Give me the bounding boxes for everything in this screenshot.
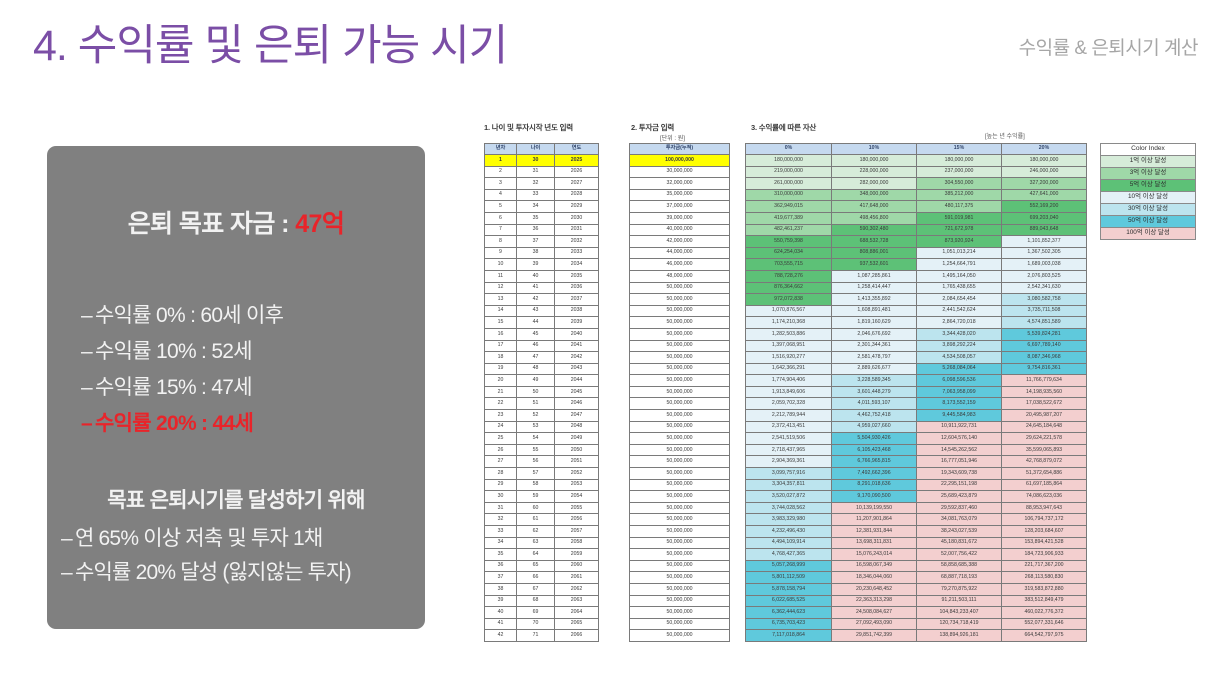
table-cell[interactable]: 237,000,000 [917, 166, 1002, 178]
table-row[interactable]: 17462041 [485, 340, 599, 352]
table-cell[interactable]: 106,794,737,172 [1002, 514, 1087, 526]
table-cell[interactable]: 28 [485, 468, 517, 480]
table-cell[interactable]: 2037 [555, 294, 599, 306]
table-cell[interactable]: 31 [517, 166, 555, 178]
table-cell[interactable]: 2042 [555, 352, 599, 364]
table-cell[interactable]: 58 [517, 479, 555, 491]
table-cell[interactable]: 39 [485, 595, 517, 607]
table-cell[interactable]: 383,512,849,479 [1002, 595, 1087, 607]
table-row[interactable]: 2,372,413,4514,959,027,66010,911,922,731… [746, 421, 1087, 433]
table-cell[interactable]: 808,886,001 [832, 247, 917, 259]
table-cell[interactable]: 22,363,313,298 [832, 595, 917, 607]
table-cell[interactable]: 2038 [555, 305, 599, 317]
table-row[interactable]: 27562051 [485, 456, 599, 468]
table-cell[interactable]: 36 [517, 224, 555, 236]
table-cell[interactable]: 1,397,068,951 [746, 340, 832, 352]
table-cell[interactable]: 319,583,872,880 [1002, 583, 1087, 595]
table-cell[interactable]: 3,898,292,224 [917, 340, 1002, 352]
table-row[interactable]: 6,735,703,42327,092,493,090120,734,718,4… [746, 618, 1087, 630]
table-row[interactable]: 1,282,503,8862,046,676,6923,344,428,0205… [746, 328, 1087, 340]
table-cell[interactable]: 1,051,013,214 [917, 247, 1002, 259]
table-cell[interactable]: 128,203,684,607 [1002, 526, 1087, 538]
table-cell[interactable]: 38 [485, 583, 517, 595]
table-cell[interactable]: 24,645,184,648 [1002, 421, 1087, 433]
table-row[interactable]: 6,362,444,62324,508,084,627104,843,233,4… [746, 607, 1087, 619]
table-cell[interactable]: 180,000,000 [1002, 155, 1087, 167]
table-row[interactable]: 8372032 [485, 236, 599, 248]
table-cell[interactable]: 38 [517, 247, 555, 259]
table-cell[interactable]: 184,723,906,933 [1002, 549, 1087, 561]
table-cell[interactable]: 3,520,027,872 [746, 491, 832, 503]
table-row[interactable]: 1302025 [485, 155, 599, 167]
table-cell[interactable]: 460,022,776,372 [1002, 607, 1087, 619]
table-cell[interactable]: 50,000,000 [630, 583, 730, 595]
table-row[interactable]: 1,913,849,6063,601,448,2797,063,958,0991… [746, 386, 1087, 398]
table-cell[interactable]: 3,983,329,980 [746, 514, 832, 526]
table-cell[interactable]: 419,677,389 [746, 212, 832, 224]
table-row[interactable]: 46,000,000 [630, 259, 730, 271]
table-cell[interactable]: 6,766,965,815 [832, 456, 917, 468]
table-cell[interactable]: 624,254,034 [746, 247, 832, 259]
table-row[interactable]: 310,000,000348,000,000385,212,000427,641… [746, 189, 1087, 201]
table-cell[interactable]: 5,268,084,064 [917, 363, 1002, 375]
table-cell[interactable]: 2062 [555, 583, 599, 595]
table-cell[interactable]: 3,344,428,020 [917, 328, 1002, 340]
table-cell[interactable]: 1,413,355,892 [832, 294, 917, 306]
table-cell[interactable]: 40 [517, 270, 555, 282]
table-cell[interactable]: 48,000,000 [630, 270, 730, 282]
table-cell[interactable]: 50,000,000 [630, 468, 730, 480]
table-cell[interactable]: 42 [517, 294, 555, 306]
table-row[interactable]: 50,000,000 [630, 386, 730, 398]
table-cell[interactable]: 2046 [555, 398, 599, 410]
table-row[interactable]: 6,022,685,52522,363,313,29891,211,503,11… [746, 595, 1087, 607]
table-cell[interactable]: 1 [485, 155, 517, 167]
table-cell[interactable]: 66 [517, 572, 555, 584]
table-row[interactable]: 37662061 [485, 572, 599, 584]
table-row[interactable]: 38672062 [485, 583, 599, 595]
table-cell[interactable]: 699,203,040 [1002, 212, 1087, 224]
table-row[interactable]: 16452040 [485, 328, 599, 340]
table-cell[interactable]: 37 [485, 572, 517, 584]
table-cell[interactable]: 50,000,000 [630, 630, 730, 642]
table-cell[interactable]: 22,295,151,198 [917, 479, 1002, 491]
table-cell[interactable]: 2025 [555, 155, 599, 167]
table-cell[interactable]: 2055 [555, 502, 599, 514]
table-cell[interactable]: 2,046,676,692 [832, 328, 917, 340]
table-cell[interactable]: 50,000,000 [630, 421, 730, 433]
table-cell[interactable]: 29,592,837,460 [917, 502, 1002, 514]
table-cell[interactable]: 2061 [555, 572, 599, 584]
table-cell[interactable]: 40,000,000 [630, 224, 730, 236]
table-row[interactable]: 39,000,000 [630, 212, 730, 224]
table-cell[interactable]: 29 [485, 479, 517, 491]
table-cell[interactable]: 50,000,000 [630, 560, 730, 572]
table-cell[interactable]: 2030 [555, 212, 599, 224]
table-cell[interactable]: 2,718,437,965 [746, 444, 832, 456]
table-cell[interactable]: 2064 [555, 607, 599, 619]
table-cell[interactable]: 69 [517, 607, 555, 619]
table-row[interactable]: 4,768,427,36515,076,243,01452,007,756,42… [746, 549, 1087, 561]
table-cell[interactable]: 972,072,838 [746, 294, 832, 306]
table-cell[interactable]: 1,495,164,050 [917, 270, 1002, 282]
table-cell[interactable]: 2056 [555, 514, 599, 526]
table-row[interactable]: 1,397,068,9512,301,344,3613,898,292,2246… [746, 340, 1087, 352]
table-cell[interactable]: 50,000,000 [630, 294, 730, 306]
table-cell[interactable]: 7,063,958,099 [917, 386, 1002, 398]
table-cell[interactable]: 2039 [555, 317, 599, 329]
table-cell[interactable]: 50,000,000 [630, 340, 730, 352]
table-cell[interactable]: 57 [517, 468, 555, 480]
table-cell[interactable]: 56 [517, 456, 555, 468]
table-row[interactable]: 876,364,6621,258,414,4471,765,438,6552,5… [746, 282, 1087, 294]
table-cell[interactable]: 4,959,027,660 [832, 421, 917, 433]
table-cell[interactable]: 1,608,891,481 [832, 305, 917, 317]
table-row[interactable]: 419,677,389498,456,800591,019,981699,203… [746, 212, 1087, 224]
table-cell[interactable]: 18,346,044,060 [832, 572, 917, 584]
table-body[interactable]: 100,000,00030,000,00032,000,00035,000,00… [630, 155, 730, 642]
table-row[interactable]: 5,878,158,79420,230,648,45279,270,875,92… [746, 583, 1087, 595]
table-cell[interactable]: 3,735,711,508 [1002, 305, 1087, 317]
table-cell[interactable]: 50,000,000 [630, 572, 730, 584]
table-cell[interactable]: 71 [517, 630, 555, 642]
table-cell[interactable]: 482,461,237 [746, 224, 832, 236]
table-cell[interactable]: 6,735,703,423 [746, 618, 832, 630]
table-cell[interactable]: 50,000,000 [630, 386, 730, 398]
table-cell[interactable]: 3,304,357,811 [746, 479, 832, 491]
table-cell[interactable]: 2060 [555, 560, 599, 572]
table-cell[interactable]: 36 [485, 560, 517, 572]
table-cell[interactable]: 50 [517, 386, 555, 398]
table-row[interactable]: 25542049 [485, 433, 599, 445]
table-cell[interactable]: 4,494,109,914 [746, 537, 832, 549]
table-row[interactable]: 36652060 [485, 560, 599, 572]
table-row[interactable]: 50,000,000 [630, 317, 730, 329]
table-cell[interactable]: 35,000,000 [630, 189, 730, 201]
table-row[interactable]: 50,000,000 [630, 572, 730, 584]
table-cell[interactable]: 552,077,331,646 [1002, 618, 1087, 630]
table-cell[interactable]: 2,212,789,944 [746, 410, 832, 422]
table-cell[interactable]: 219,000,000 [746, 166, 832, 178]
table-row[interactable]: 6352030 [485, 212, 599, 224]
table-cell[interactable]: 50,000,000 [630, 282, 730, 294]
table-cell[interactable]: 45,180,831,672 [917, 537, 1002, 549]
table-cell[interactable]: 51,372,654,886 [1002, 468, 1087, 480]
table-cell[interactable]: 60 [517, 502, 555, 514]
table-cell[interactable]: 1,174,210,368 [746, 317, 832, 329]
table-cell[interactable]: 2058 [555, 537, 599, 549]
table-cell[interactable]: 2,889,626,677 [832, 363, 917, 375]
table-cell[interactable]: 268,113,580,830 [1002, 572, 1087, 584]
table-row[interactable]: 41702065 [485, 618, 599, 630]
table-cell[interactable]: 721,672,978 [917, 224, 1002, 236]
table-cell[interactable]: 1,689,003,038 [1002, 259, 1087, 271]
age-year-table[interactable]: 년차나이연도 130202523120263322027433202853420… [484, 143, 599, 642]
table-row[interactable]: 11402035 [485, 270, 599, 282]
table-cell[interactable]: 5,057,268,999 [746, 560, 832, 572]
table-row[interactable]: 5342029 [485, 201, 599, 213]
table-row[interactable]: 50,000,000 [630, 398, 730, 410]
table-row[interactable]: 50,000,000 [630, 537, 730, 549]
table-cell[interactable]: 50,000,000 [630, 514, 730, 526]
table-cell[interactable]: 27 [485, 456, 517, 468]
table-cell[interactable]: 100,000,000 [630, 155, 730, 167]
table-cell[interactable]: 2057 [555, 526, 599, 538]
table-cell[interactable]: 2,059,702,328 [746, 398, 832, 410]
table-cell[interactable]: 6,098,596,536 [917, 375, 1002, 387]
table-cell[interactable]: 16,598,067,349 [832, 560, 917, 572]
table-cell[interactable]: 35 [485, 549, 517, 561]
table-cell[interactable]: 14,198,935,560 [1002, 386, 1087, 398]
table-cell[interactable]: 6,697,789,140 [1002, 340, 1087, 352]
table-cell[interactable]: 417,648,000 [832, 201, 917, 213]
table-cell[interactable]: 8 [485, 236, 517, 248]
table-row[interactable]: 19482043 [485, 363, 599, 375]
table-cell[interactable]: 27,092,493,090 [832, 618, 917, 630]
table-cell[interactable]: 30 [485, 491, 517, 503]
table-cell[interactable]: 24,508,084,627 [832, 607, 917, 619]
table-cell[interactable]: 19,343,609,738 [917, 468, 1002, 480]
table-row[interactable]: 4,232,496,43012,381,931,84438,243,027,53… [746, 526, 1087, 538]
table-row[interactable]: 1,516,920,2772,581,478,7974,534,508,0578… [746, 352, 1087, 364]
table-cell[interactable]: 2053 [555, 479, 599, 491]
table-cell[interactable]: 48 [517, 363, 555, 375]
table-cell[interactable]: 29,624,221,578 [1002, 433, 1087, 445]
table-row[interactable]: 482,461,237590,302,480721,672,978889,043… [746, 224, 1087, 236]
table-cell[interactable]: 32,000,000 [630, 178, 730, 190]
table-cell[interactable]: 32 [485, 514, 517, 526]
table-row[interactable]: 30,000,000 [630, 166, 730, 178]
table-cell[interactable]: 5,539,824,281 [1002, 328, 1087, 340]
table-cell[interactable]: 45 [517, 328, 555, 340]
table-cell[interactable]: 42,000,000 [630, 236, 730, 248]
table-row[interactable]: 48,000,000 [630, 270, 730, 282]
table-cell[interactable]: 3,080,582,758 [1002, 294, 1087, 306]
table-cell[interactable]: 2036 [555, 282, 599, 294]
table-cell[interactable]: 2063 [555, 595, 599, 607]
table-cell[interactable]: 2065 [555, 618, 599, 630]
table-cell[interactable]: 42 [485, 630, 517, 642]
table-cell[interactable]: 2041 [555, 340, 599, 352]
table-cell[interactable]: 261,000,000 [746, 178, 832, 190]
table-cell[interactable]: 1,070,876,567 [746, 305, 832, 317]
table-row[interactable]: 3,983,329,98011,207,901,86434,081,763,07… [746, 514, 1087, 526]
table-cell[interactable]: 24 [485, 421, 517, 433]
table-cell[interactable]: 10 [485, 259, 517, 271]
table-cell[interactable]: 10,139,199,550 [832, 502, 917, 514]
table-row[interactable]: 261,000,000282,000,000304,550,000327,200… [746, 178, 1087, 190]
table-cell[interactable]: 2,581,478,797 [832, 352, 917, 364]
table-cell[interactable]: 50,000,000 [630, 398, 730, 410]
table-cell[interactable]: 2066 [555, 630, 599, 642]
table-cell[interactable]: 15,076,243,014 [832, 549, 917, 561]
table-cell[interactable]: 37,000,000 [630, 201, 730, 213]
table-cell[interactable]: 15 [485, 317, 517, 329]
table-cell[interactable]: 304,550,000 [917, 178, 1002, 190]
table-cell[interactable]: 68,887,718,193 [917, 572, 1002, 584]
table-cell[interactable]: 20 [485, 375, 517, 387]
table-cell[interactable]: 876,364,662 [746, 282, 832, 294]
table-row[interactable]: 50,000,000 [630, 282, 730, 294]
table-cell[interactable]: 3,228,589,345 [832, 375, 917, 387]
table-cell[interactable]: 40 [485, 607, 517, 619]
table-cell[interactable]: 348,000,000 [832, 189, 917, 201]
table-row[interactable]: 1,642,366,2912,889,626,6775,268,084,0649… [746, 363, 1087, 375]
table-row[interactable]: 37,000,000 [630, 201, 730, 213]
table-row[interactable]: 50,000,000 [630, 328, 730, 340]
table-cell[interactable]: 1,101,852,377 [1002, 236, 1087, 248]
table-row[interactable]: 3,520,027,8729,170,090,50025,689,423,879… [746, 491, 1087, 503]
table-cell[interactable]: 2,542,341,630 [1002, 282, 1087, 294]
table-row[interactable]: 29582053 [485, 479, 599, 491]
table-cell[interactable]: 70 [517, 618, 555, 630]
table-cell[interactable]: 2044 [555, 375, 599, 387]
table-cell[interactable]: 34 [517, 201, 555, 213]
table-cell[interactable]: 10,911,922,731 [917, 421, 1002, 433]
table-cell[interactable]: 120,734,718,419 [917, 618, 1002, 630]
table-cell[interactable]: 4,768,427,365 [746, 549, 832, 561]
table-cell[interactable]: 2047 [555, 410, 599, 422]
table-cell[interactable]: 1,642,366,291 [746, 363, 832, 375]
table-cell[interactable]: 6,105,423,468 [832, 444, 917, 456]
table-cell[interactable]: 2059 [555, 549, 599, 561]
table-cell[interactable]: 88,953,947,643 [1002, 502, 1087, 514]
table-cell[interactable]: 11 [485, 270, 517, 282]
table-row[interactable]: 180,000,000180,000,000180,000,000180,000… [746, 155, 1087, 167]
table-cell[interactable]: 2040 [555, 328, 599, 340]
table-cell[interactable]: 2029 [555, 201, 599, 213]
table-body[interactable]: 1302025231202633220274332028534202963520… [485, 155, 599, 642]
investment-amount-table[interactable]: 투자금(누적) 100,000,00030,000,00032,000,0003… [629, 143, 730, 642]
table-row[interactable]: 624,254,034808,886,0011,051,013,2141,367… [746, 247, 1087, 259]
table-row[interactable]: 24532048 [485, 421, 599, 433]
table-cell[interactable]: 4,232,496,430 [746, 526, 832, 538]
table-row[interactable]: 14432038 [485, 305, 599, 317]
table-cell[interactable]: 50,000,000 [630, 618, 730, 630]
table-cell[interactable]: 50,000,000 [630, 433, 730, 445]
table-row[interactable]: 100,000,000 [630, 155, 730, 167]
table-row[interactable]: 9382033 [485, 247, 599, 259]
table-row[interactable]: 2,541,519,5065,504,930,42612,604,576,140… [746, 433, 1087, 445]
table-cell[interactable]: 1,367,502,305 [1002, 247, 1087, 259]
table-row[interactable]: 5,057,268,99916,598,067,34958,858,685,38… [746, 560, 1087, 572]
table-cell[interactable]: 1,819,160,629 [832, 317, 917, 329]
table-cell[interactable]: 703,555,715 [746, 259, 832, 271]
table-cell[interactable]: 25,689,423,879 [917, 491, 1002, 503]
table-cell[interactable]: 55 [517, 444, 555, 456]
table-row[interactable]: 3,304,357,8118,291,018,63622,295,151,198… [746, 479, 1087, 491]
table-cell[interactable]: 63 [517, 537, 555, 549]
table-cell[interactable]: 50,000,000 [630, 502, 730, 514]
table-row[interactable]: 50,000,000 [630, 491, 730, 503]
table-row[interactable]: 1,070,876,5671,608,891,4812,441,542,6243… [746, 305, 1087, 317]
table-cell[interactable]: 74,086,623,036 [1002, 491, 1087, 503]
table-cell[interactable]: 7,492,662,396 [832, 468, 917, 480]
table-cell[interactable]: 50,000,000 [630, 352, 730, 364]
table-cell[interactable]: 50,000,000 [630, 549, 730, 561]
table-row[interactable]: 50,000,000 [630, 421, 730, 433]
table-cell[interactable]: 2031 [555, 224, 599, 236]
table-cell[interactable]: 44,000,000 [630, 247, 730, 259]
table-row[interactable]: 33622057 [485, 526, 599, 538]
table-cell[interactable]: 50,000,000 [630, 317, 730, 329]
table-cell[interactable]: 228,000,000 [832, 166, 917, 178]
table-row[interactable]: 15442039 [485, 317, 599, 329]
table-row[interactable]: 7362031 [485, 224, 599, 236]
table-cell[interactable]: 427,641,000 [1002, 189, 1087, 201]
table-cell[interactable]: 5,878,158,794 [746, 583, 832, 595]
table-cell[interactable]: 20,495,987,207 [1002, 410, 1087, 422]
table-row[interactable]: 18472042 [485, 352, 599, 364]
table-cell[interactable]: 2045 [555, 386, 599, 398]
table-cell[interactable]: 6,022,685,525 [746, 595, 832, 607]
table-cell[interactable]: 552,169,200 [1002, 201, 1087, 213]
table-cell[interactable]: 61 [517, 514, 555, 526]
table-row[interactable]: 3,099,757,9167,492,662,39619,343,609,738… [746, 468, 1087, 480]
table-row[interactable]: 362,949,015417,648,000480,117,375552,169… [746, 201, 1087, 213]
table-row[interactable]: 28572052 [485, 468, 599, 480]
table-cell[interactable]: 91,211,503,111 [917, 595, 1002, 607]
table-cell[interactable]: 16 [485, 328, 517, 340]
table-row[interactable]: 50,000,000 [630, 410, 730, 422]
table-cell[interactable]: 5 [485, 201, 517, 213]
table-cell[interactable]: 19 [485, 363, 517, 375]
table-cell[interactable]: 1,516,920,277 [746, 352, 832, 364]
table-cell[interactable]: 3 [485, 178, 517, 190]
table-cell[interactable]: 9,170,090,500 [832, 491, 917, 503]
table-cell[interactable]: 7,117,018,864 [746, 630, 832, 642]
table-cell[interactable]: 23 [485, 410, 517, 422]
table-cell[interactable]: 4 [485, 189, 517, 201]
table-cell[interactable]: 46 [517, 340, 555, 352]
table-cell[interactable]: 2043 [555, 363, 599, 375]
table-cell[interactable]: 385,212,000 [917, 189, 1002, 201]
table-row[interactable]: 40,000,000 [630, 224, 730, 236]
table-cell[interactable]: 29,851,742,399 [832, 630, 917, 642]
table-cell[interactable]: 34 [485, 537, 517, 549]
table-row[interactable]: 4332028 [485, 189, 599, 201]
table-row[interactable]: 50,000,000 [630, 468, 730, 480]
table-cell[interactable]: 4,574,851,589 [1002, 317, 1087, 329]
table-cell[interactable]: 30,000,000 [630, 166, 730, 178]
table-cell[interactable]: 50,000,000 [630, 595, 730, 607]
table-row[interactable]: 39682063 [485, 595, 599, 607]
table-row[interactable]: 21502045 [485, 386, 599, 398]
table-cell[interactable]: 180,000,000 [917, 155, 1002, 167]
table-cell[interactable]: 12,381,931,844 [832, 526, 917, 538]
table-row[interactable]: 219,000,000228,000,000237,000,000246,000… [746, 166, 1087, 178]
table-cell[interactable]: 2,441,542,624 [917, 305, 1002, 317]
table-row[interactable]: 50,000,000 [630, 433, 730, 445]
table-cell[interactable]: 43 [517, 305, 555, 317]
table-cell[interactable]: 362,949,015 [746, 201, 832, 213]
table-cell[interactable]: 327,200,000 [1002, 178, 1087, 190]
table-cell[interactable]: 17,038,522,672 [1002, 398, 1087, 410]
table-row[interactable]: 50,000,000 [630, 549, 730, 561]
table-cell[interactable]: 51 [517, 398, 555, 410]
table-row[interactable]: 50,000,000 [630, 595, 730, 607]
table-cell[interactable]: 65 [517, 560, 555, 572]
table-cell[interactable]: 1,087,285,861 [832, 270, 917, 282]
table-row[interactable]: 44,000,000 [630, 247, 730, 259]
table-row[interactable]: 50,000,000 [630, 630, 730, 642]
table-row[interactable]: 2,904,369,3616,766,965,81516,777,051,946… [746, 456, 1087, 468]
table-cell[interactable]: 14,545,262,562 [917, 444, 1002, 456]
table-cell[interactable]: 79,270,875,922 [917, 583, 1002, 595]
table-cell[interactable]: 30 [517, 155, 555, 167]
table-cell[interactable]: 2033 [555, 247, 599, 259]
asset-by-return-table[interactable]: 0%10%15%20% 180,000,000180,000,000180,00… [745, 143, 1087, 642]
